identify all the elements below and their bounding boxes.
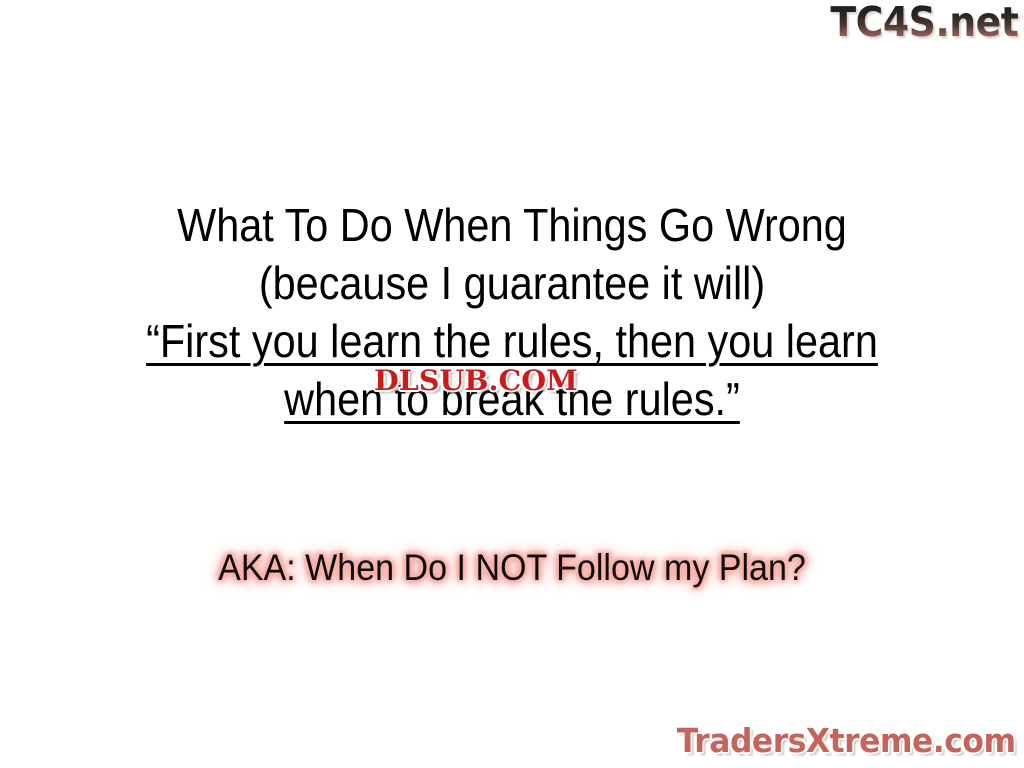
brand-logo-tc4s: TC4S.net xyxy=(830,2,1018,43)
presentation-slide: TC4S.net What To Do When Things Go Wrong… xyxy=(0,0,1024,768)
subtitle-aka-line: AKA: When Do I NOT Follow my Plan? xyxy=(41,545,983,591)
site-logo-tradersxtreme: TradersXtreme.com xyxy=(677,724,1016,757)
title-line-2: (because I guarantee it will) xyxy=(51,254,973,312)
title-line-1: What To Do When Things Go Wrong xyxy=(51,196,973,254)
title-line-3-quote-first: “First you learn the rules, then you lea… xyxy=(51,312,973,370)
watermark-dlsub: DLSUB.COM xyxy=(374,364,578,398)
